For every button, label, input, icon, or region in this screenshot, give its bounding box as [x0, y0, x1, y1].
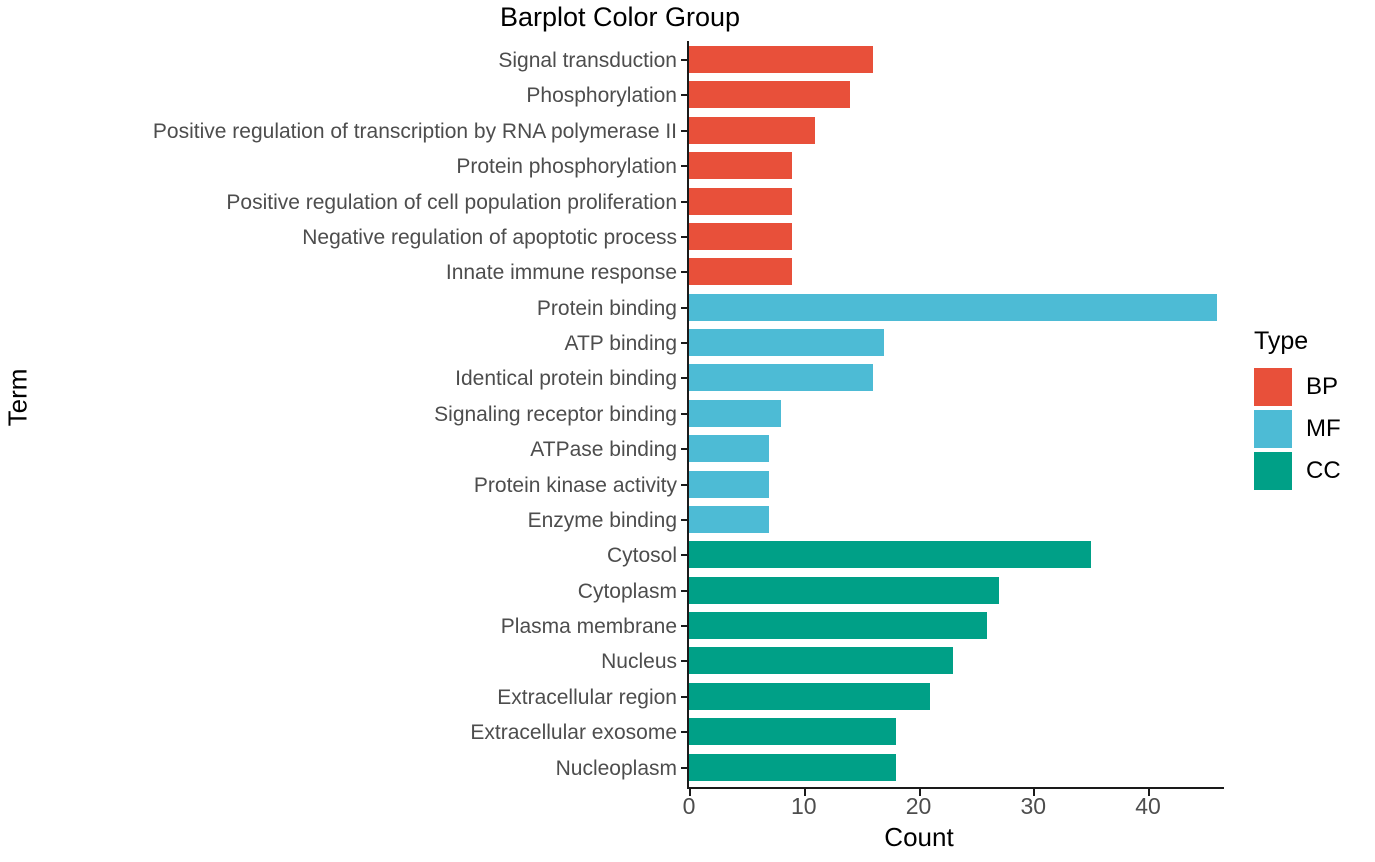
bar[interactable] — [689, 258, 792, 285]
y-tick-label: Enzyme binding — [528, 510, 677, 531]
x-tick-label: 40 — [1118, 793, 1178, 820]
bar[interactable] — [689, 577, 999, 604]
bar[interactable] — [689, 754, 896, 781]
bar-row — [689, 113, 1224, 148]
y-tick-mark — [681, 660, 688, 662]
y-tick-label: Innate immune response — [446, 262, 677, 283]
legend-color-swatch — [1254, 368, 1292, 406]
bar-row — [689, 184, 1224, 219]
bar[interactable] — [689, 223, 792, 250]
y-tick-mark — [681, 307, 688, 309]
x-tick-label: 20 — [889, 793, 949, 820]
x-axis-line — [687, 787, 1224, 789]
bar[interactable] — [689, 647, 953, 674]
y-tick-label: Signal transduction — [498, 50, 677, 71]
y-tick-mark — [681, 236, 688, 238]
bar-row — [689, 608, 1224, 643]
bar-row — [689, 77, 1224, 112]
y-tick-label: Signaling receptor binding — [434, 404, 677, 425]
y-tick-mark — [681, 130, 688, 132]
bar[interactable] — [689, 683, 930, 710]
y-tick-label: Protein binding — [537, 298, 677, 319]
bar-row — [689, 679, 1224, 714]
y-tick-label: Positive regulation of cell population p… — [226, 192, 677, 213]
y-tick-mark — [681, 519, 688, 521]
y-tick-mark — [681, 413, 688, 415]
y-tick-label: Nucleoplasm — [556, 758, 677, 779]
bar-row — [689, 714, 1224, 749]
y-tick-label: Cytoplasm — [578, 581, 677, 602]
legend-label: BP — [1306, 375, 1338, 399]
bar[interactable] — [689, 294, 1217, 321]
bar-row — [689, 325, 1224, 360]
y-tick-mark — [681, 767, 688, 769]
y-tick-mark — [681, 590, 688, 592]
bar-row — [689, 254, 1224, 289]
bar[interactable] — [689, 718, 896, 745]
bar[interactable] — [689, 188, 792, 215]
legend-color-swatch — [1254, 452, 1292, 490]
bar[interactable] — [689, 81, 850, 108]
y-tick-mark — [681, 165, 688, 167]
y-tick-label: Extracellular region — [497, 687, 677, 708]
bar-row — [689, 42, 1224, 77]
bar-row — [689, 360, 1224, 395]
bar-row — [689, 219, 1224, 254]
bar-row — [689, 431, 1224, 466]
y-axis-title: Term — [3, 358, 34, 438]
bar-row — [689, 502, 1224, 537]
legend: Type BPMFCC — [1254, 329, 1375, 492]
bar-row — [689, 148, 1224, 183]
bar[interactable] — [689, 152, 792, 179]
legend-item[interactable]: BP — [1254, 366, 1375, 408]
y-tick-label: Negative regulation of apoptotic process — [302, 227, 677, 248]
legend-item[interactable]: CC — [1254, 450, 1375, 492]
y-tick-mark — [681, 271, 688, 273]
bar-row — [689, 290, 1224, 325]
y-tick-mark — [681, 342, 688, 344]
y-tick-mark — [681, 377, 688, 379]
y-tick-label: Nucleus — [601, 651, 677, 672]
y-tick-label: ATP binding — [565, 333, 677, 354]
y-tick-label: Extracellular exosome — [470, 722, 677, 743]
y-tick-mark — [681, 201, 688, 203]
y-tick-mark — [681, 554, 688, 556]
y-tick-mark — [681, 94, 688, 96]
bar-row — [689, 750, 1224, 785]
bar[interactable] — [689, 400, 781, 427]
bar-row — [689, 537, 1224, 572]
x-axis-title: Count — [689, 822, 1149, 853]
bar[interactable] — [689, 506, 769, 533]
barplot-figure: Barplot Color Group Term Count Signal tr… — [0, 0, 1375, 862]
bar-row — [689, 467, 1224, 502]
chart-title: Barplot Color Group — [0, 2, 1240, 33]
y-tick-mark — [681, 59, 688, 61]
legend-item[interactable]: MF — [1254, 408, 1375, 450]
legend-label: MF — [1306, 417, 1341, 441]
y-tick-mark — [681, 625, 688, 627]
y-tick-mark — [681, 696, 688, 698]
bar[interactable] — [689, 329, 884, 356]
bar[interactable] — [689, 364, 873, 391]
bar[interactable] — [689, 471, 769, 498]
x-tick-label: 10 — [774, 793, 834, 820]
legend-color-swatch — [1254, 410, 1292, 448]
y-tick-label: Protein phosphorylation — [456, 156, 677, 177]
x-tick-label: 30 — [1003, 793, 1063, 820]
legend-label: CC — [1306, 459, 1341, 483]
bar[interactable] — [689, 117, 815, 144]
y-tick-label: ATPase binding — [530, 439, 677, 460]
y-tick-mark — [681, 484, 688, 486]
bar[interactable] — [689, 435, 769, 462]
bar-row — [689, 396, 1224, 431]
x-tick-label: 0 — [659, 793, 719, 820]
y-tick-label: Phosphorylation — [526, 85, 677, 106]
bar[interactable] — [689, 612, 987, 639]
legend-items: BPMFCC — [1254, 366, 1375, 492]
y-tick-label: Plasma membrane — [501, 616, 677, 637]
legend-title: Type — [1254, 329, 1375, 354]
y-tick-label: Protein kinase activity — [474, 475, 677, 496]
bar[interactable] — [689, 541, 1091, 568]
bar-row — [689, 573, 1224, 608]
y-tick-mark — [681, 731, 688, 733]
bar-row — [689, 643, 1224, 678]
bar[interactable] — [689, 46, 873, 73]
y-tick-label: Positive regulation of transcription by … — [153, 121, 677, 142]
y-tick-label: Cytosol — [607, 545, 677, 566]
y-tick-label: Identical protein binding — [455, 368, 677, 389]
y-tick-mark — [681, 448, 688, 450]
